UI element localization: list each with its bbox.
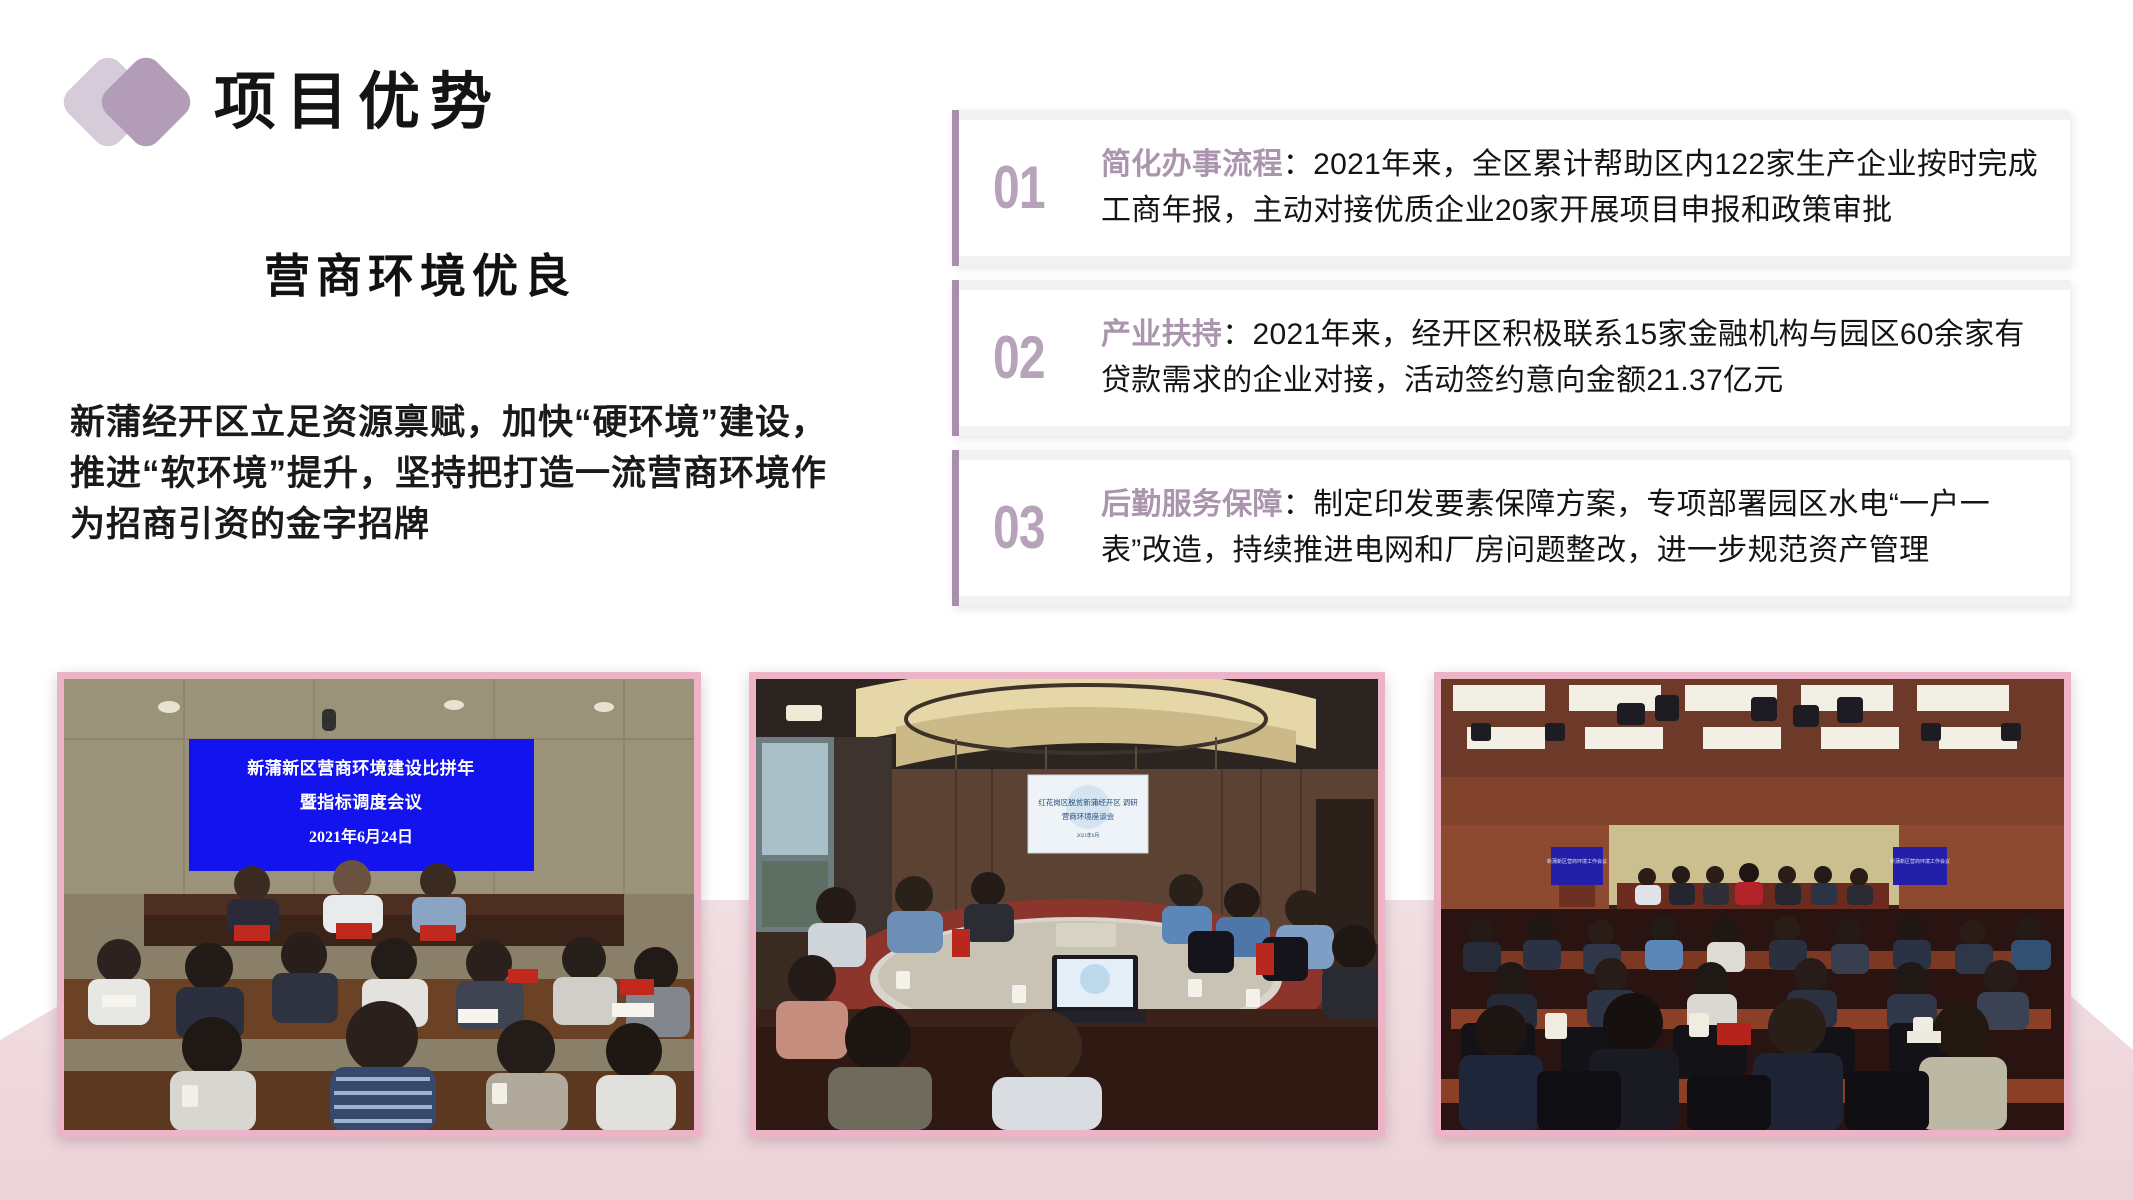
svg-text:新蒲新区营商环境工作会议: 新蒲新区营商环境工作会议 xyxy=(1890,858,1950,865)
card-keyword: 产业扶持 xyxy=(1101,318,1222,351)
page-header: 项目优势 xyxy=(70,48,502,158)
page-title: 项目优势 xyxy=(214,72,502,134)
svg-text:新蒲新区营商环境建设比拼年: 新蒲新区营商环境建设比拼年 xyxy=(247,758,475,778)
advantage-card-02[interactable]: 02 产业扶持：2021年来，经开区积极联系15家金融机构与园区60余家有贷款需… xyxy=(952,280,2070,436)
svg-text:2021年6月: 2021年6月 xyxy=(1077,832,1100,839)
card-keyword: 简化办事流程 xyxy=(1101,148,1283,181)
advantage-cards-list: 01 简化办事流程：2021年来，全区累计帮助区内122家生产企业按时完成工商年… xyxy=(952,110,2070,606)
card-number: 01 xyxy=(993,158,1079,218)
card-text: 产业扶持：2021年来，经开区积极联系15家金融机构与园区60余家有贷款需求的企… xyxy=(1101,312,2044,405)
left-column: 营商环境优良 新蒲经开区立足资源禀赋，加快“硬环境”建设，推进“软环境”提升，坚… xyxy=(70,240,890,550)
card-accent-bar xyxy=(952,450,959,606)
card-number: 02 xyxy=(993,328,1079,388)
card-accent-bar xyxy=(952,280,959,436)
card-body: 03 后勤服务保障：制定印发要素保障方案，专项部署园区水电“一户一表”改造，持续… xyxy=(959,460,2070,596)
card-text: 后勤服务保障：制定印发要素保障方案，专项部署园区水电“一户一表”改造，持续推进电… xyxy=(1101,482,2044,575)
card-accent-bar xyxy=(952,110,959,266)
advantage-card-03[interactable]: 03 后勤服务保障：制定印发要素保障方案，专项部署园区水电“一户一表”改造，持续… xyxy=(952,450,2070,606)
svg-text:新蒲新区营商环境工作会议: 新蒲新区营商环境工作会议 xyxy=(1547,858,1607,865)
conference-room-photo-2[interactable]: 红花岗区脱贫新蒲经开区 调研 营商环境座谈会 2021年6月 xyxy=(749,672,1385,1137)
intro-paragraph: 新蒲经开区立足资源禀赋，加快“硬环境”建设，推进“软环境”提升，坚持把打造一流营… xyxy=(70,398,860,550)
card-body: 01 简化办事流程：2021年来，全区累计帮助区内122家生产企业按时完成工商年… xyxy=(959,120,2070,256)
card-number: 03 xyxy=(993,498,1079,558)
svg-text:2021年6月24日: 2021年6月24日 xyxy=(309,827,413,846)
section-subtitle: 营商环境优良 xyxy=(70,240,770,306)
double-diamond-icon xyxy=(70,48,188,158)
photo-gallery: 新蒲新区营商环境建设比拼年 暨指标调度会议 2021年6月24日 xyxy=(0,672,2133,1152)
card-keyword: 后勤服务保障 xyxy=(1101,488,1283,521)
card-body: 02 产业扶持：2021年来，经开区积极联系15家金融机构与园区60余家有贷款需… xyxy=(959,290,2070,426)
svg-text:红花岗区脱贫新蒲经开区 调研: 红花岗区脱贫新蒲经开区 调研 xyxy=(1038,797,1138,807)
card-separator: ： xyxy=(1283,488,1313,521)
svg-text:暨指标调度会议: 暨指标调度会议 xyxy=(300,792,423,812)
card-separator: ： xyxy=(1222,318,1252,351)
svg-text:营商环境座谈会: 营商环境座谈会 xyxy=(1062,811,1115,821)
card-text: 简化办事流程：2021年来，全区累计帮助区内122家生产企业按时完成工商年报，主… xyxy=(1101,142,2044,235)
card-separator: ： xyxy=(1283,148,1313,181)
conference-room-photo-1[interactable]: 新蒲新区营商环境建设比拼年 暨指标调度会议 2021年6月24日 xyxy=(57,672,701,1137)
advantage-card-01[interactable]: 01 简化办事流程：2021年来，全区累计帮助区内122家生产企业按时完成工商年… xyxy=(952,110,2070,266)
conference-room-photo-3[interactable]: 新蒲新区营商环境建设工作会议 新蒲新区营商环境工作会议 新蒲新区营商环境工作会议 xyxy=(1434,672,2071,1137)
